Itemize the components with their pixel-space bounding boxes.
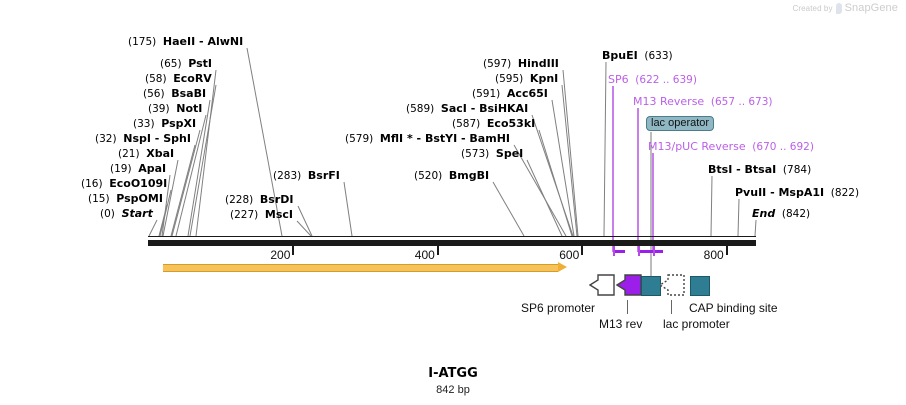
enzyme-name: SacI: [441, 102, 467, 115]
site-position: (842): [775, 208, 810, 220]
site-position: (19): [110, 163, 138, 175]
ruler-tick: [726, 246, 728, 255]
enzyme-name: BpuEI: [602, 49, 638, 62]
enzyme-name: BstYI: [425, 132, 457, 145]
snapgene-logo-icon: [836, 3, 842, 14]
feature-square-glyph: [641, 276, 661, 296]
orf-arrow-body: [163, 264, 558, 272]
site-position: (32): [95, 133, 123, 145]
restriction-site-label[interactable]: (228) BsrDI: [225, 194, 294, 206]
site-position: (39): [148, 103, 176, 115]
enzyme-name: ApaI: [138, 162, 166, 175]
site-position: (175): [128, 36, 163, 48]
primer-name: SP6: [608, 73, 629, 86]
restriction-site-label[interactable]: (579) MflI * - BstYI - BamHI: [345, 133, 510, 145]
restriction-site-label[interactable]: (595) KpnI: [495, 73, 558, 85]
restriction-site-label[interactable]: (58) EcoRV: [145, 73, 212, 85]
name-separator: -: [766, 186, 778, 199]
name-separator: -: [413, 132, 425, 145]
primer-label[interactable]: M13/pUC Reverse (670 .. 692): [648, 141, 814, 153]
feature-name-label: lac promoter: [663, 317, 730, 331]
primer-label[interactable]: SP6 (622 .. 639): [608, 74, 697, 86]
ruler-tick: [437, 246, 439, 255]
primer-name: M13 Reverse: [633, 95, 704, 108]
restriction-site-label[interactable]: (520) BmgBI: [414, 170, 489, 182]
site-position: (587): [452, 118, 487, 130]
restriction-site-label[interactable]: BtsI - BtsaI (784): [708, 164, 811, 176]
feature-glyph[interactable]: [690, 276, 710, 296]
enzyme-name: EcoRV: [173, 72, 212, 85]
enzyme-name: SphI: [163, 132, 191, 145]
restriction-site-label[interactable]: (283) BsrFI: [273, 170, 340, 182]
enzyme-name: BsrFI: [308, 169, 340, 182]
site-position: (16): [81, 178, 109, 190]
orf-arrow[interactable]: [163, 262, 567, 272]
enzyme-name: NspI: [123, 132, 151, 145]
site-position: (58): [145, 73, 173, 85]
enzyme-name: Start: [122, 207, 153, 220]
site-position: (633): [638, 50, 673, 62]
feature-label-box[interactable]: lac operator: [646, 116, 714, 131]
primer-range: (622 .. 639): [629, 74, 697, 86]
feature-stem: [627, 300, 628, 314]
enzyme-name: PstI: [188, 57, 212, 70]
primer-end-tick: [638, 246, 640, 256]
restriction-site-label[interactable]: (175) HaeII - AlwNI: [128, 36, 243, 48]
site-position: (595): [495, 73, 530, 85]
feature-label-text: lac operator: [651, 117, 709, 129]
primer-end-tick: [653, 246, 655, 256]
ruler-label: 200: [262, 248, 290, 262]
site-position: (15): [88, 193, 116, 205]
enzyme-name: BsiHKAI: [479, 102, 528, 115]
ruler-tick: [581, 246, 583, 255]
restriction-site-label[interactable]: (19) ApaI: [110, 163, 166, 175]
enzyme-name: Eco53kI: [487, 117, 535, 130]
site-position: (597): [483, 58, 518, 70]
enzyme-name: MflI *: [380, 132, 413, 145]
enzyme-name: HindIII: [518, 57, 559, 70]
ruler-tick: [292, 246, 294, 255]
feature-glyph[interactable]: [589, 273, 615, 301]
restriction-site-label[interactable]: (591) Acc65I: [472, 88, 548, 100]
primer-label[interactable]: M13 Reverse (657 .. 673): [633, 96, 773, 108]
primer-track-bar[interactable]: [647, 250, 663, 253]
site-position: (589): [406, 103, 441, 115]
primer-range: (657 .. 673): [704, 96, 772, 108]
restriction-site-label[interactable]: (32) NspI - SphI: [95, 133, 191, 145]
primer-range: (670 .. 692): [746, 141, 814, 153]
restriction-site-label[interactable]: (0) Start: [100, 208, 153, 220]
enzyme-name: End: [752, 207, 775, 220]
enzyme-name: EcoO109I: [109, 177, 167, 190]
feature-stem: [671, 300, 672, 314]
site-position: (283): [273, 170, 308, 182]
restriction-site-label[interactable]: (33) PspXI: [133, 118, 196, 130]
enzyme-name: BsrDI: [260, 193, 294, 206]
enzyme-name: AlwNI: [207, 35, 243, 48]
ruler-label: 800: [696, 248, 724, 262]
enzyme-name: Acc65I: [507, 87, 548, 100]
enzyme-name: BmgBI: [449, 169, 489, 182]
site-position: (822): [824, 187, 859, 199]
snapgene-watermark: Created by SnapGene: [792, 2, 898, 14]
restriction-site-label[interactable]: BpuEI (633): [602, 50, 673, 62]
restriction-site-label[interactable]: (227) MscI: [230, 209, 293, 221]
primer-name: M13/pUC Reverse: [648, 140, 746, 153]
site-position: (0): [100, 208, 122, 220]
sequence-backbone[interactable]: [148, 240, 756, 246]
restriction-site-label[interactable]: (39) NotI: [148, 103, 202, 115]
restriction-site-label[interactable]: (597) HindIII: [483, 58, 559, 70]
watermark-brand: SnapGene: [845, 2, 898, 14]
restriction-site-label[interactable]: (587) Eco53kI: [452, 118, 535, 130]
site-position: (520): [414, 170, 449, 182]
enzyme-name: PspOMI: [116, 192, 163, 205]
sequence-map: Created by SnapGene (175) HaeII - AlwNI(…: [0, 0, 906, 405]
restriction-site-label[interactable]: (65) PstI: [160, 58, 212, 70]
page-title: I-ATGG: [0, 366, 906, 381]
feature-name-label: CAP binding site: [689, 301, 778, 315]
watermark-prefix: Created by: [792, 4, 832, 13]
ruler-label: 600: [551, 248, 579, 262]
enzyme-name: MspA1I: [778, 186, 824, 199]
restriction-site-label[interactable]: End (842): [752, 208, 810, 220]
feature-glyph[interactable]: [616, 273, 642, 301]
name-separator: -: [151, 132, 163, 145]
restriction-site-label[interactable]: (15) PspOMI: [88, 193, 163, 205]
sequence-length: 842 bp: [0, 384, 906, 396]
site-position: (33): [133, 118, 161, 130]
enzyme-name: BsaBI: [171, 87, 206, 100]
site-position: (228): [225, 194, 260, 206]
site-position: (21): [118, 148, 146, 160]
enzyme-name: SpeI: [496, 147, 523, 160]
restriction-site-label[interactable]: PvuII - MspA1I (822): [735, 187, 859, 199]
enzyme-name: NotI: [176, 102, 202, 115]
feature-name-label: M13 rev: [599, 317, 642, 331]
feature-glyph[interactable]: [641, 276, 661, 296]
restriction-site-label[interactable]: (589) SacI - BsiHKAI: [406, 103, 528, 115]
name-separator: -: [467, 102, 479, 115]
feature-square-glyph: [690, 276, 710, 296]
site-position: (784): [776, 164, 811, 176]
name-separator: -: [732, 163, 744, 176]
restriction-site-label[interactable]: (56) BsaBI: [143, 88, 206, 100]
site-position: (573): [461, 148, 496, 160]
site-position: (591): [472, 88, 507, 100]
primer-end-tick: [613, 246, 615, 256]
orf-arrow-head: [558, 262, 567, 272]
feature-glyph[interactable]: [659, 273, 685, 301]
name-separator: -: [457, 132, 469, 145]
enzyme-name: PvuII: [735, 186, 766, 199]
restriction-site-label[interactable]: (21) XbaI: [118, 148, 174, 160]
enzyme-name: KpnI: [530, 72, 558, 85]
enzyme-name: PspXI: [161, 117, 196, 130]
feature-name-label: SP6 promoter: [521, 301, 595, 315]
site-position: (56): [143, 88, 171, 100]
sequence-backbone-top: [148, 236, 756, 237]
restriction-site-label[interactable]: (573) SpeI: [461, 148, 523, 160]
site-position: (227): [230, 209, 265, 221]
enzyme-name: HaeII: [163, 35, 195, 48]
enzyme-name: BtsI: [708, 163, 732, 176]
ruler-label: 400: [407, 248, 435, 262]
enzyme-name: BamHI: [469, 132, 510, 145]
site-position: (65): [160, 58, 188, 70]
enzyme-name: MscI: [265, 208, 293, 221]
enzyme-name: BtsaI: [745, 163, 777, 176]
restriction-site-label[interactable]: (16) EcoO109I: [81, 178, 167, 190]
site-position: (579): [345, 133, 380, 145]
name-separator: -: [195, 35, 207, 48]
enzyme-name: XbaI: [146, 147, 174, 160]
